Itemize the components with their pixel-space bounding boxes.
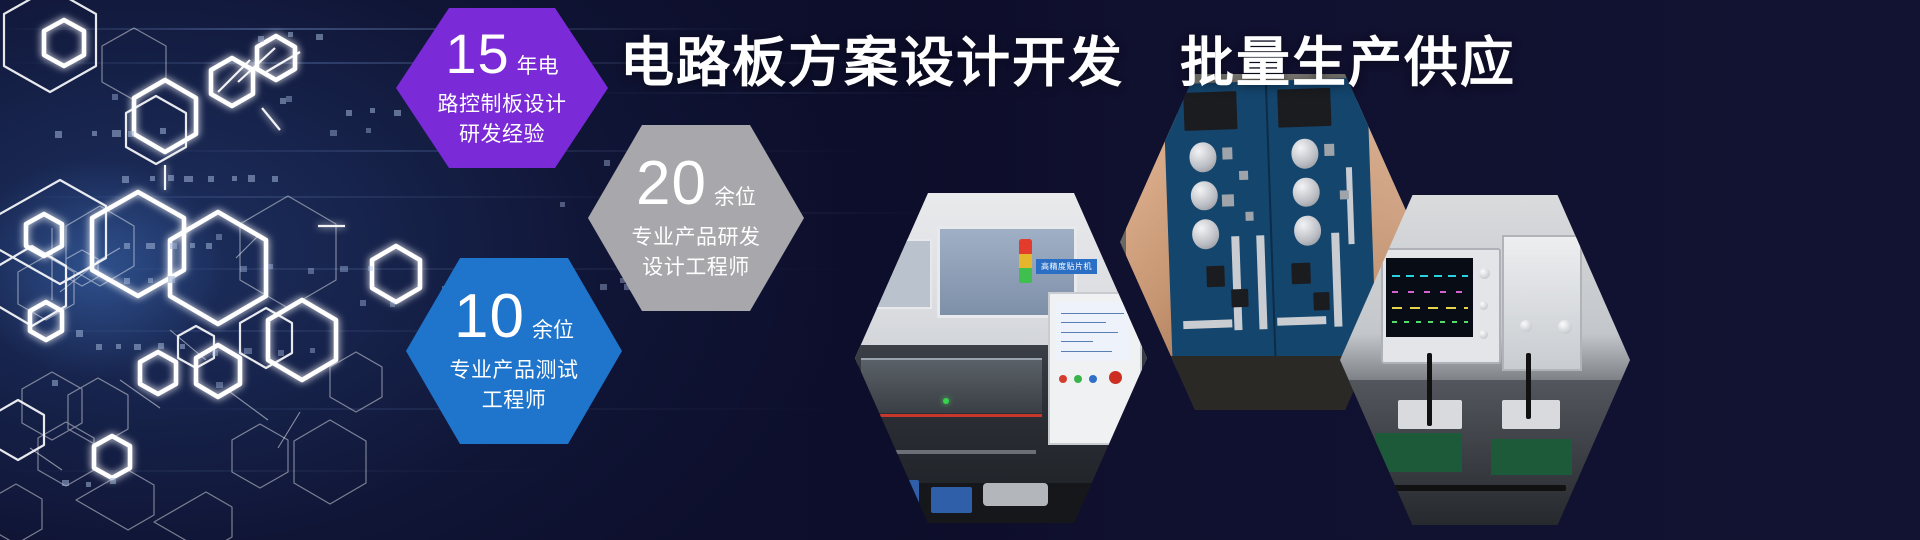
parts-bin-right	[931, 487, 972, 513]
waveform-green	[1392, 321, 1469, 323]
banner-headline: 电路板方案设计开发 批量生产供应	[620, 18, 1516, 97]
probe-cable	[1526, 353, 1531, 419]
scope-knob	[1479, 268, 1490, 279]
stat-line2: 路控制板设计	[438, 90, 567, 120]
waveform-magenta	[1392, 291, 1469, 293]
stat-top-line: 15 年电	[445, 26, 558, 82]
board-split-line	[1265, 81, 1277, 377]
circuit-board	[1163, 77, 1377, 380]
oscilloscope-screen	[1386, 258, 1473, 337]
stat-line3: 设计工程师	[642, 253, 750, 283]
test-board-green	[1375, 433, 1462, 473]
stat-number: 20	[636, 153, 707, 215]
smd-component	[1324, 143, 1335, 155]
panel-screen	[1056, 302, 1129, 361]
stat-top-line: 20 余位	[636, 153, 756, 215]
smd-component	[1245, 211, 1253, 220]
stat-top-line: 10 余位	[454, 286, 574, 348]
smd-component	[1340, 190, 1348, 199]
small-ic	[1292, 263, 1311, 284]
capacitor	[1191, 180, 1219, 210]
stat-number: 10	[454, 286, 525, 348]
stat-unit: 余位	[714, 187, 756, 208]
solder-pad-row	[1277, 315, 1326, 326]
stat-line2: 专业产品研发	[632, 223, 761, 253]
stat-unit: 余位	[532, 320, 574, 341]
signal-tower-icon	[1019, 239, 1032, 283]
small-ic	[1206, 266, 1225, 287]
panel-button-red	[1059, 375, 1067, 383]
banner: 15 年电 路控制板设计 研发经验 20 余位 专业产品研发 设计工程师 10 …	[0, 0, 1920, 540]
panel-button-green	[1074, 375, 1082, 383]
instrument-right	[1502, 235, 1581, 371]
smd-component	[1222, 147, 1233, 159]
stat-line3: 工程师	[482, 386, 547, 416]
stat-number: 15	[445, 26, 509, 82]
status-led	[943, 398, 949, 404]
solder-pad-row	[1183, 319, 1232, 330]
small-ic	[1313, 292, 1330, 310]
machine-glass-cover	[861, 358, 1042, 413]
scope-knob	[1479, 301, 1488, 310]
capacitor	[1192, 219, 1220, 249]
headline-part-1: 电路板方案设计开发	[620, 18, 1124, 97]
connector-block	[1502, 400, 1560, 430]
smd-component	[1222, 194, 1235, 206]
pin-header	[1231, 236, 1242, 331]
waveform-yellow	[1392, 307, 1469, 309]
machine-label: 高精度贴片机	[1036, 259, 1097, 274]
smd-component	[1239, 170, 1247, 179]
headline-part-2: 批量生产供应	[1180, 18, 1516, 97]
instrument-knob	[1558, 320, 1572, 334]
stat-line2: 专业产品测试	[450, 356, 579, 386]
stat-unit: 年电	[517, 56, 559, 77]
pin-header	[1345, 167, 1354, 244]
small-ic	[1231, 289, 1248, 307]
machine-red-stripe	[861, 414, 1042, 417]
capacitor	[1189, 142, 1217, 172]
pin-header	[1256, 235, 1267, 330]
stat-line3: 研发经验	[459, 120, 545, 150]
capacitor	[1294, 215, 1322, 245]
test-board-green	[1491, 439, 1572, 475]
waveform-cyan	[1392, 275, 1469, 277]
pin-header	[1331, 232, 1342, 327]
capacitor	[1291, 138, 1319, 168]
cable-bundle	[983, 483, 1047, 506]
probe-cable	[1427, 353, 1432, 426]
panel-button-blue	[1089, 375, 1097, 383]
capacitor	[1293, 177, 1321, 207]
